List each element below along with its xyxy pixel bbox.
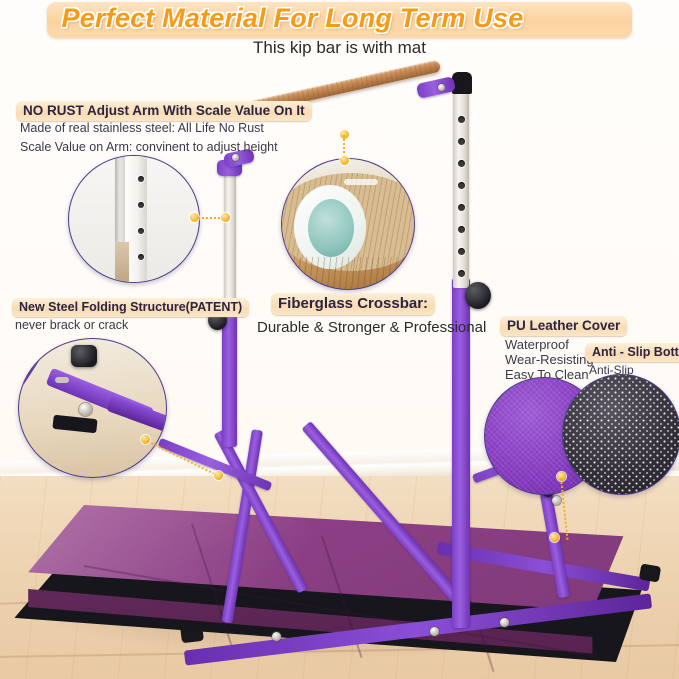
callout-badge-adjust-arm-emphasis: NO RUST xyxy=(23,103,84,118)
inset-adjust-hole xyxy=(138,176,144,182)
post-right-lock-knob[interactable] xyxy=(465,282,491,309)
folding-joint-inset xyxy=(18,338,167,478)
inset-adjust-hole xyxy=(138,254,144,260)
post-left-adjust-arm xyxy=(224,172,236,307)
lead-dot-antislip-base xyxy=(550,533,559,542)
callout-line-pu-2: Wear-Resisting xyxy=(505,352,594,367)
adjust-hole xyxy=(458,182,465,189)
adjust-hole xyxy=(458,138,465,145)
callout-badge-folding: New Steel Folding Structure(PATENT) xyxy=(12,298,249,317)
lead-dot-arm-post xyxy=(221,213,230,222)
base-bolt xyxy=(500,618,509,627)
inset-folding-knob xyxy=(71,345,97,367)
crossbar-bolt-right xyxy=(438,84,445,91)
adjust-hole xyxy=(458,204,465,211)
post-right-top-cap xyxy=(452,72,472,94)
crossbar-inset xyxy=(281,158,415,290)
inset-adjust-hole xyxy=(138,202,144,208)
adjust-hole xyxy=(458,270,465,277)
callout-line-adjust-arm-2: Scale Value on Arm: convinent to adjust … xyxy=(20,140,278,154)
anti-slip-inset xyxy=(562,374,679,495)
leg-bolt xyxy=(552,496,561,505)
lead-dot-folding-joint xyxy=(214,471,223,480)
callout-line-pu-1: Waterproof xyxy=(505,337,569,352)
callout-badge-adjust-arm-rest: Adjust Arm With Scale Value On It xyxy=(87,103,305,118)
base-end-cap-right xyxy=(639,563,661,582)
base-bolt xyxy=(430,627,439,636)
inset-folding-upper-arm xyxy=(18,347,42,414)
lead-dot-crossbar-circle xyxy=(340,156,349,165)
inset-folding-pivot-bolt xyxy=(79,403,92,416)
callout-badge-pu-leather: PU Leather Cover xyxy=(500,316,627,336)
inset-wood-floor xyxy=(282,257,414,289)
callout-line-folding-1: never brack or crack xyxy=(15,318,128,332)
inset-floor-glimpse xyxy=(115,242,129,282)
inset-adjust-hole xyxy=(138,228,144,234)
callout-badge-adjust-arm: NO RUST Adjust Arm With Scale Value On I… xyxy=(16,101,312,121)
inset-bar-glare xyxy=(344,179,378,185)
inset-antislip-dots xyxy=(563,375,679,494)
leg-bolt xyxy=(272,632,281,641)
adjust-hole xyxy=(458,160,465,167)
callout-badge-fiberglass: Fiberglass Crossbar: xyxy=(271,293,435,315)
callout-badge-anti-slip: Anti - Slip Bottom xyxy=(585,343,679,362)
inset-fiberglass-core xyxy=(308,199,354,257)
crossbar-bolt-left xyxy=(232,154,239,161)
inset-folding-foot xyxy=(52,415,97,434)
callout-line-adjust-arm-1: Made of real stainless steel: All Life N… xyxy=(20,121,264,135)
adjust-hole xyxy=(458,226,465,233)
adjust-hole xyxy=(458,248,465,255)
base-end-cap-left xyxy=(180,624,204,644)
banner-title: Perfect Material For Long Term Use xyxy=(0,0,585,36)
inset-folding-pin xyxy=(55,377,69,383)
steel-arm-inset xyxy=(68,155,200,283)
callout-line-fiberglass-1: Durable & Stronger & Professional xyxy=(257,319,486,336)
product-infographic: Perfect Material For Long Term Use This … xyxy=(0,0,679,679)
adjust-hole xyxy=(458,116,465,123)
banner-subtitle: This kip bar is with mat xyxy=(0,38,679,58)
